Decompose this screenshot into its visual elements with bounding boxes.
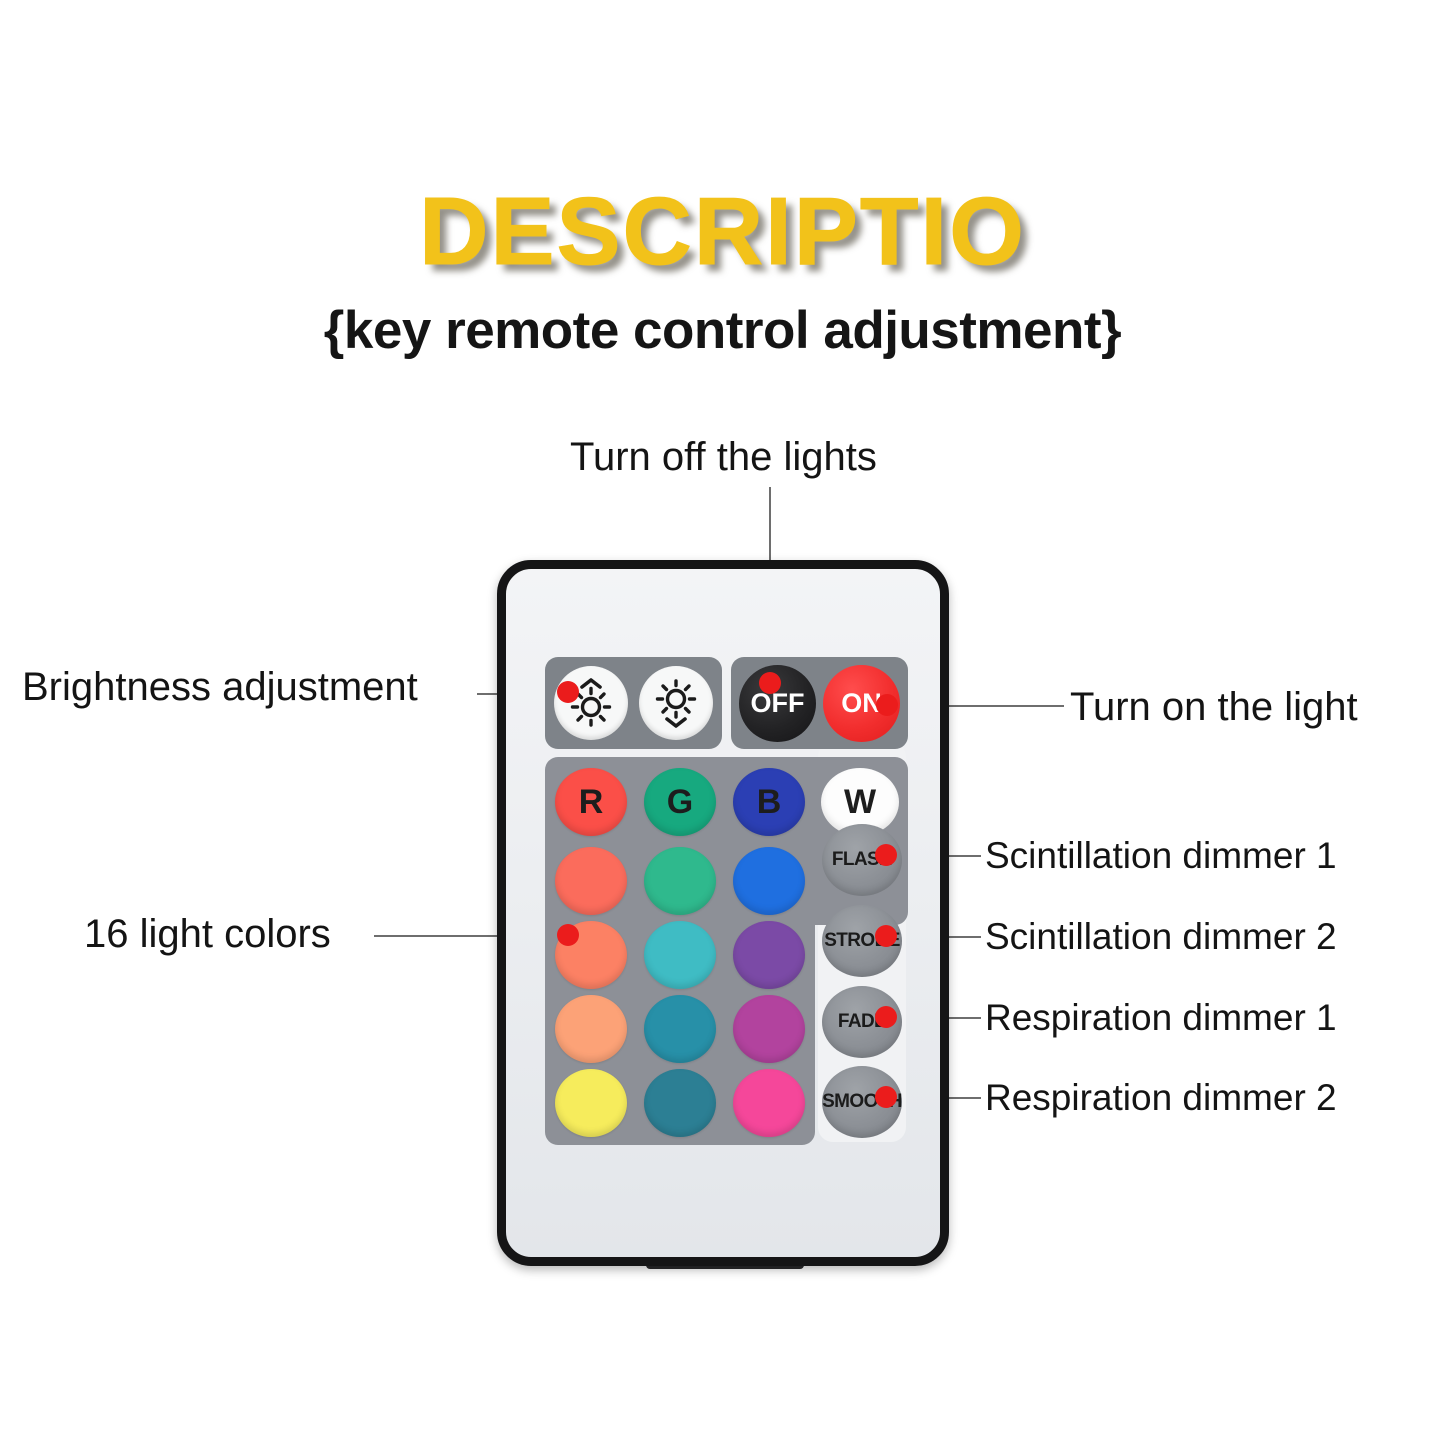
page-subtitle: {key remote control adjustment} [0, 300, 1445, 361]
color-swatch[interactable] [733, 995, 805, 1063]
brightness-up-button[interactable] [554, 666, 628, 740]
brightness-button-pad [545, 657, 722, 749]
color-swatch[interactable] [644, 1069, 716, 1137]
anchor-dot-turn-on [876, 694, 898, 716]
color-swatch[interactable] [644, 921, 716, 989]
callout-16-light-colors: 16 light colors [84, 912, 331, 956]
color-swatch[interactable] [733, 1069, 805, 1137]
callout-turn-off-lights: Turn off the lights [570, 435, 877, 479]
callout-scintillation-1: Scintillation dimmer 1 [985, 836, 1337, 877]
color-button-r-label: R [555, 768, 627, 836]
anchor-dot-fade [875, 1006, 897, 1028]
color-swatch[interactable] [555, 995, 627, 1063]
page-title: DESCRIPTIO [0, 182, 1445, 283]
anchor-dot-smooth [875, 1086, 897, 1108]
color-button-b-label: B [733, 768, 805, 836]
color-swatch[interactable] [733, 847, 805, 915]
color-swatch[interactable] [555, 847, 627, 915]
color-button-r[interactable]: R [555, 768, 627, 836]
color-button-g[interactable]: G [644, 768, 716, 836]
callout-brightness: Brightness adjustment [22, 665, 418, 709]
anchor-dot-strobe [875, 925, 897, 947]
color-swatch[interactable] [733, 921, 805, 989]
color-swatch[interactable] [644, 847, 716, 915]
brightness-down-button[interactable] [639, 666, 713, 740]
anchor-dot-16-colors [557, 924, 579, 946]
color-button-g-label: G [644, 768, 716, 836]
color-swatch[interactable] [555, 1069, 627, 1137]
anchor-dot-flash [875, 844, 897, 866]
callout-turn-on-light: Turn on the light [1070, 685, 1358, 729]
callout-respiration-2: Respiration dimmer 2 [985, 1078, 1337, 1119]
color-button-b[interactable]: B [733, 768, 805, 836]
anchor-dot-brightness [557, 681, 579, 703]
callout-respiration-1: Respiration dimmer 1 [985, 998, 1337, 1039]
color-swatch[interactable] [644, 995, 716, 1063]
anchor-dot-turn-off [759, 672, 781, 694]
description-infographic: DESCRIPTIO {key remote control adjustmen… [0, 0, 1445, 1445]
callout-scintillation-2: Scintillation dimmer 2 [985, 917, 1337, 958]
